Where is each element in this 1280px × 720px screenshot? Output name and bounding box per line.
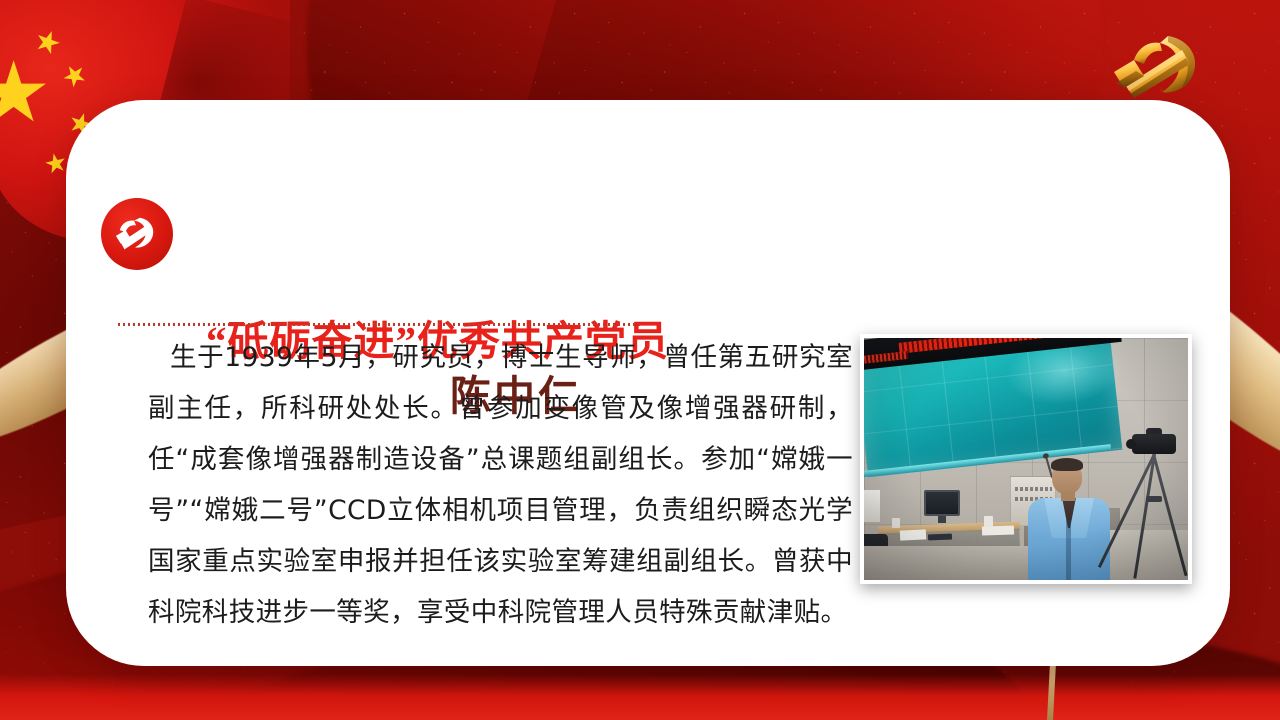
biography-paragraph: 生于1939年5月，研究员，博士生导师，曾任第五研究室副主任，所科研处处长。曾参… xyxy=(148,332,853,638)
portrait-photo-image xyxy=(864,338,1188,580)
background-bottom-band xyxy=(0,674,1280,720)
dotted-divider xyxy=(118,323,642,326)
biography-text: 生于1939年5月，研究员，博士生导师，曾任第五研究室副主任，所科研处处长。曾参… xyxy=(148,332,853,638)
photo-vignette xyxy=(864,338,1188,580)
flag-star-large: ★ xyxy=(0,50,51,134)
party-emblem-gold-icon xyxy=(1108,28,1214,106)
portrait-photo xyxy=(860,334,1192,584)
hammer-sickle-badge-icon xyxy=(101,198,173,270)
slide-stage: ★ ★ ★ ★ ★ xyxy=(0,0,1280,720)
content-card: “砥砺奋进”优秀共产党员 陈中仁 生于1939年5月，研究员，博士生导师，曾任第… xyxy=(66,100,1230,666)
